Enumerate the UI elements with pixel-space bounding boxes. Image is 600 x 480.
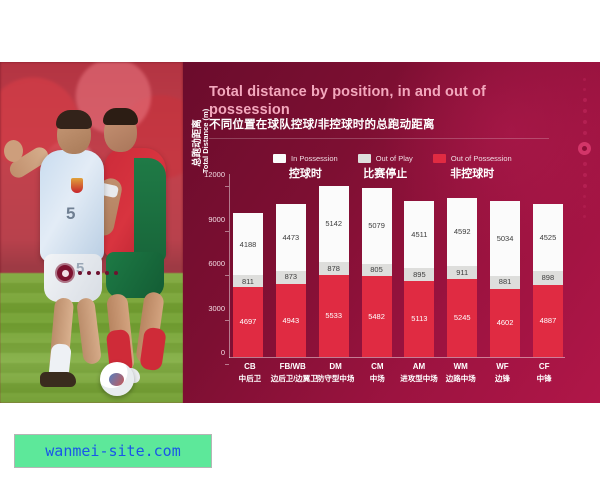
bar-segment-out-of-possession: 5482 <box>362 276 392 357</box>
bar-segment-out-of-possession: 4943 <box>276 284 306 357</box>
legend-swatch-out-of-possession <box>433 154 446 163</box>
x-label-cn: 边锋 <box>482 373 524 384</box>
dot-icon <box>78 271 82 275</box>
x-axis-label-cm: CM中场 <box>356 362 398 384</box>
legend-label-en: Out of Play <box>376 154 413 163</box>
bar-segment-in-possession: 5142 <box>319 186 349 262</box>
title-divider <box>209 138 549 139</box>
bar-cb[interactable]: 41888114697 <box>233 213 263 357</box>
dot-icon <box>583 215 586 218</box>
x-label-en: CM <box>356 362 398 371</box>
x-axis-label-fb-wb: FB/WB边后卫/边翼卫 <box>271 362 315 384</box>
x-label-cn: 中场 <box>356 373 398 384</box>
dot-icon <box>583 120 587 124</box>
bar-cf[interactable]: 45258984887 <box>533 204 563 357</box>
bar-wm[interactable]: 45929115245 <box>447 198 477 357</box>
spain-player-hair <box>56 110 92 129</box>
bar-segment-out-of-possession: 4887 <box>533 285 563 357</box>
chart-plot-area: 总跑动距离 Total Distance (m) 030006000900012… <box>229 180 565 358</box>
bar-wf[interactable]: 50348814602 <box>490 201 520 357</box>
dot-icon <box>583 78 586 81</box>
bar-segment-out-of-play: 873 <box>276 271 306 284</box>
legend-swatch-in-possession <box>273 154 286 163</box>
bar-segment-in-possession: 4188 <box>233 213 263 275</box>
watermark-text: wanmei-site.com <box>45 442 180 460</box>
bar-segment-in-possession: 4525 <box>533 204 563 271</box>
y-axis-tick-mark <box>225 186 229 187</box>
x-label-en: WM <box>440 362 482 371</box>
x-axis-label-cf: CF中锋 <box>523 362 565 384</box>
dot-icon <box>583 109 587 113</box>
x-label-en: DM <box>315 362 357 371</box>
bar-group: 4188811469744738734943514287855335079805… <box>233 180 563 357</box>
bar-segment-out-of-possession: 4602 <box>490 289 520 357</box>
bar-segment-out-of-possession: 5245 <box>447 279 477 357</box>
dot-icon <box>114 271 118 275</box>
bar-segment-out-of-possession: 4697 <box>233 287 263 357</box>
watermark-banner: wanmei-site.com <box>14 434 212 468</box>
bar-am[interactable]: 45118955113 <box>404 201 434 357</box>
dot-icon <box>583 88 586 91</box>
dot-icon <box>583 162 587 166</box>
decorative-dot-column <box>578 78 591 218</box>
y-axis-tick-mark <box>225 231 229 232</box>
dot-icon <box>583 98 587 102</box>
legend-label-en: Out of Possession <box>451 154 512 163</box>
bar-segment-out-of-play: 895 <box>404 268 434 281</box>
x-label-cn: 中后卫 <box>229 373 271 384</box>
rosette-icon <box>57 265 73 281</box>
bar-segment-out-of-play: 878 <box>319 262 349 275</box>
bar-segment-out-of-play: 881 <box>490 276 520 289</box>
dot-icon <box>583 195 586 198</box>
spain-player-hand <box>4 140 23 162</box>
x-label-cn: 边路中场 <box>440 373 482 384</box>
chart-title-chinese: 不同位置在球队控球/非控球时的总跑动距离 <box>209 116 435 132</box>
match-photo: 5 5 <box>0 62 183 403</box>
legend-label-cn: 非控球时 <box>450 165 494 181</box>
y-axis-tick-label: 12000 <box>195 170 225 179</box>
dot-icon <box>96 271 100 275</box>
legend-item-out-of-play: Out of Play 比赛停止 <box>358 154 413 181</box>
bar-cm[interactable]: 50798055482 <box>362 188 392 357</box>
y-axis-line <box>229 174 230 358</box>
bar-segment-out-of-play: 898 <box>533 271 563 284</box>
spain-player-boot-left <box>40 372 76 387</box>
bar-segment-in-possession: 5079 <box>362 188 392 263</box>
bar-segment-out-of-possession: 5533 <box>319 275 349 357</box>
x-axis-label-dm: DM防守型中场 <box>315 362 357 384</box>
chart-panel: Total distance by position, in and out o… <box>183 62 600 403</box>
morocco-player-hair <box>103 108 138 125</box>
x-label-cn: 进攻型中场 <box>398 373 440 384</box>
bar-segment-out-of-possession: 5113 <box>404 281 434 357</box>
dot-icon <box>583 173 587 177</box>
bar-segment-in-possession: 4592 <box>447 198 477 266</box>
y-axis-tick-label: 9000 <box>195 215 225 224</box>
x-label-en: AM <box>398 362 440 371</box>
bar-dm[interactable]: 51428785533 <box>319 186 349 357</box>
x-axis-line <box>229 357 565 358</box>
y-axis-tick-mark <box>225 320 229 321</box>
dot-icon <box>87 271 91 275</box>
x-axis-label-wf: WF边锋 <box>482 362 524 384</box>
legend-label-cn: 控球时 <box>289 165 322 181</box>
infographic-stage: 5 5 Total distance by position, in and o… <box>0 62 600 403</box>
legend-item-in-possession: In Possession 控球时 <box>273 154 338 181</box>
football-ball <box>100 362 134 396</box>
legend-swatch-out-of-play <box>358 154 371 163</box>
x-label-en: CF <box>523 362 565 371</box>
bar-segment-in-possession: 4511 <box>404 201 434 268</box>
x-label-en: WF <box>482 362 524 371</box>
spain-crest-icon <box>71 178 83 193</box>
bar-segment-out-of-play: 911 <box>447 266 477 280</box>
x-label-cn: 边后卫/边翼卫 <box>271 373 315 384</box>
spain-jersey-number: 5 <box>66 204 75 224</box>
x-axis-label-am: AM进攻型中场 <box>398 362 440 384</box>
bar-segment-out-of-play: 811 <box>233 275 263 287</box>
dot-icon <box>583 205 586 208</box>
x-label-cn: 防守型中场 <box>315 373 357 384</box>
legend-label-cn: 比赛停止 <box>363 165 407 181</box>
y-axis-tick-labels: 030006000900012000 <box>195 174 225 352</box>
dot-icon <box>583 131 587 135</box>
dot-icon <box>583 184 587 188</box>
y-axis-tick-label: 0 <box>195 348 225 357</box>
x-label-en: CB <box>229 362 271 371</box>
bar-segment-out-of-play: 805 <box>362 264 392 276</box>
x-axis-label-wm: WM边路中场 <box>440 362 482 384</box>
x-axis-labels: CB中后卫FB/WB边后卫/边翼卫DM防守型中场CM中场AM进攻型中场WM边路中… <box>229 362 565 384</box>
bar-segment-in-possession: 5034 <box>490 201 520 276</box>
y-axis-tick-mark <box>225 275 229 276</box>
dot-icon <box>105 271 109 275</box>
chart-title: Total distance by position, in and out o… <box>209 83 529 119</box>
bar-segment-in-possession: 4473 <box>276 204 306 270</box>
legend-item-out-of-possession: Out of Possession 非控球时 <box>433 154 512 181</box>
morocco-player-jersey-green-panel <box>134 158 166 262</box>
chart-legend: In Possession 控球时 Out of Play 比赛停止 Out o… <box>273 154 512 181</box>
x-label-cn: 中锋 <box>523 373 565 384</box>
decorative-dot-row <box>57 265 118 281</box>
y-axis-tick-label: 3000 <box>195 304 225 313</box>
bar-fb-wb[interactable]: 44738734943 <box>276 204 306 357</box>
x-label-en: FB/WB <box>271 362 315 371</box>
legend-label-en: In Possession <box>291 154 338 163</box>
x-axis-label-cb: CB中后卫 <box>229 362 271 384</box>
y-axis-tick-label: 6000 <box>195 259 225 268</box>
rosette-icon <box>578 142 591 155</box>
